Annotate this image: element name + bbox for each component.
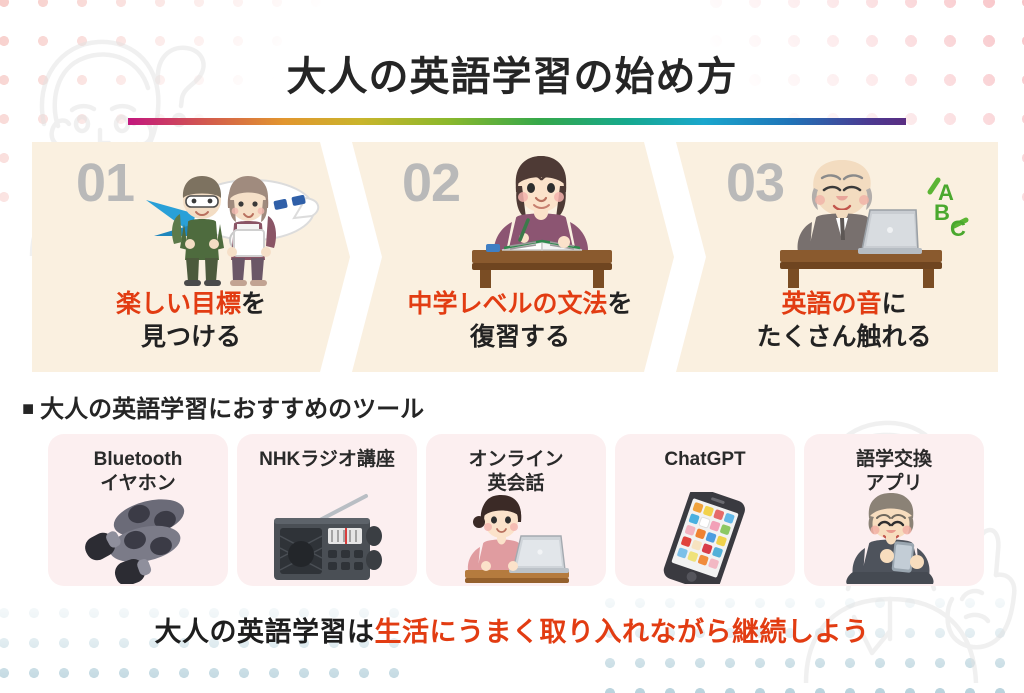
step-card-01: 01: [32, 142, 350, 372]
footer-lead-text: 大人の英語学習は: [155, 617, 375, 647]
step-card-02: 02: [352, 142, 674, 372]
tools-row: Bluetooth イヤホン: [48, 434, 988, 586]
tool-card-nhk-radio: NHKラジオ講座: [237, 434, 417, 586]
step-caption-02-tail: を: [608, 290, 633, 318]
svg-text:C: C: [950, 216, 966, 241]
step-caption-02-line2: 復習する: [366, 321, 674, 354]
step-caption-03: 英語の音に たくさん触れる: [676, 288, 998, 355]
step-card-03: 03: [676, 142, 998, 372]
steps-row: 01: [0, 142, 1024, 372]
step-caption-03-tail: に: [882, 290, 907, 318]
wireless-earbuds-icon: [73, 492, 203, 584]
tool-label-bluetooth-earphones: Bluetooth イヤホン: [48, 448, 228, 497]
tool-label-chatgpt: ChatGPT: [615, 448, 795, 472]
footer-message: 大人の英語学習は生活にうまく取り入れながら継続しよう: [0, 610, 1024, 649]
woman-video-call-laptop-icon: [451, 492, 581, 584]
woman-studying-at-desk-illustration: [446, 148, 636, 288]
tool-card-chatgpt: ChatGPT: [615, 434, 795, 586]
couple-with-airplane-illustration: [124, 148, 324, 288]
step-caption-01-line2: 見つける: [32, 321, 350, 354]
rainbow-gradient-divider: [128, 118, 906, 125]
step-caption-02-highlight: 中学レベルの文法: [407, 290, 607, 318]
smartphone-apps-icon: [640, 492, 770, 584]
portable-radio-icon: [262, 492, 392, 584]
step-caption-02: 中学レベルの文法を 復習する: [352, 288, 674, 355]
tools-heading-text: 大人の英語学習におすすめのツール: [40, 396, 424, 423]
tool-card-bluetooth-earphones: Bluetooth イヤホン: [48, 434, 228, 586]
step-caption-01-tail: を: [241, 290, 266, 318]
tool-label-online-english: オンライン 英会話: [426, 448, 606, 497]
tool-label-nhk-radio: NHKラジオ講座: [237, 448, 417, 472]
step-caption-03-highlight: 英語の音: [781, 290, 881, 318]
footer-highlight-text: 生活にうまく取り入れながら継続しよう: [375, 617, 870, 647]
tool-card-online-english: オンライン 英会話: [426, 434, 606, 586]
man-holding-smartphone-icon: [829, 492, 959, 584]
step-caption-01: 楽しい目標を 見つける: [32, 288, 350, 355]
svg-text:B: B: [934, 200, 950, 225]
tools-section-heading: ■大人の英語学習におすすめのツール: [22, 389, 424, 424]
tool-card-language-exchange-app: 語学交換 アプリ: [804, 434, 984, 586]
step-caption-01-highlight: 楽しい目標: [116, 290, 241, 318]
elderly-man-laptop-abc-illustration: A B C: [766, 148, 976, 288]
page-title: 大人の英語学習の始め方: [0, 44, 1024, 102]
tool-label-language-exchange-app: 語学交換 アプリ: [804, 448, 984, 497]
step-caption-03-line2: たくさん触れる: [690, 321, 998, 354]
bullet-square-icon: ■: [22, 398, 34, 420]
infographic-canvas: 大人の英語学習の始め方 01: [0, 0, 1024, 683]
